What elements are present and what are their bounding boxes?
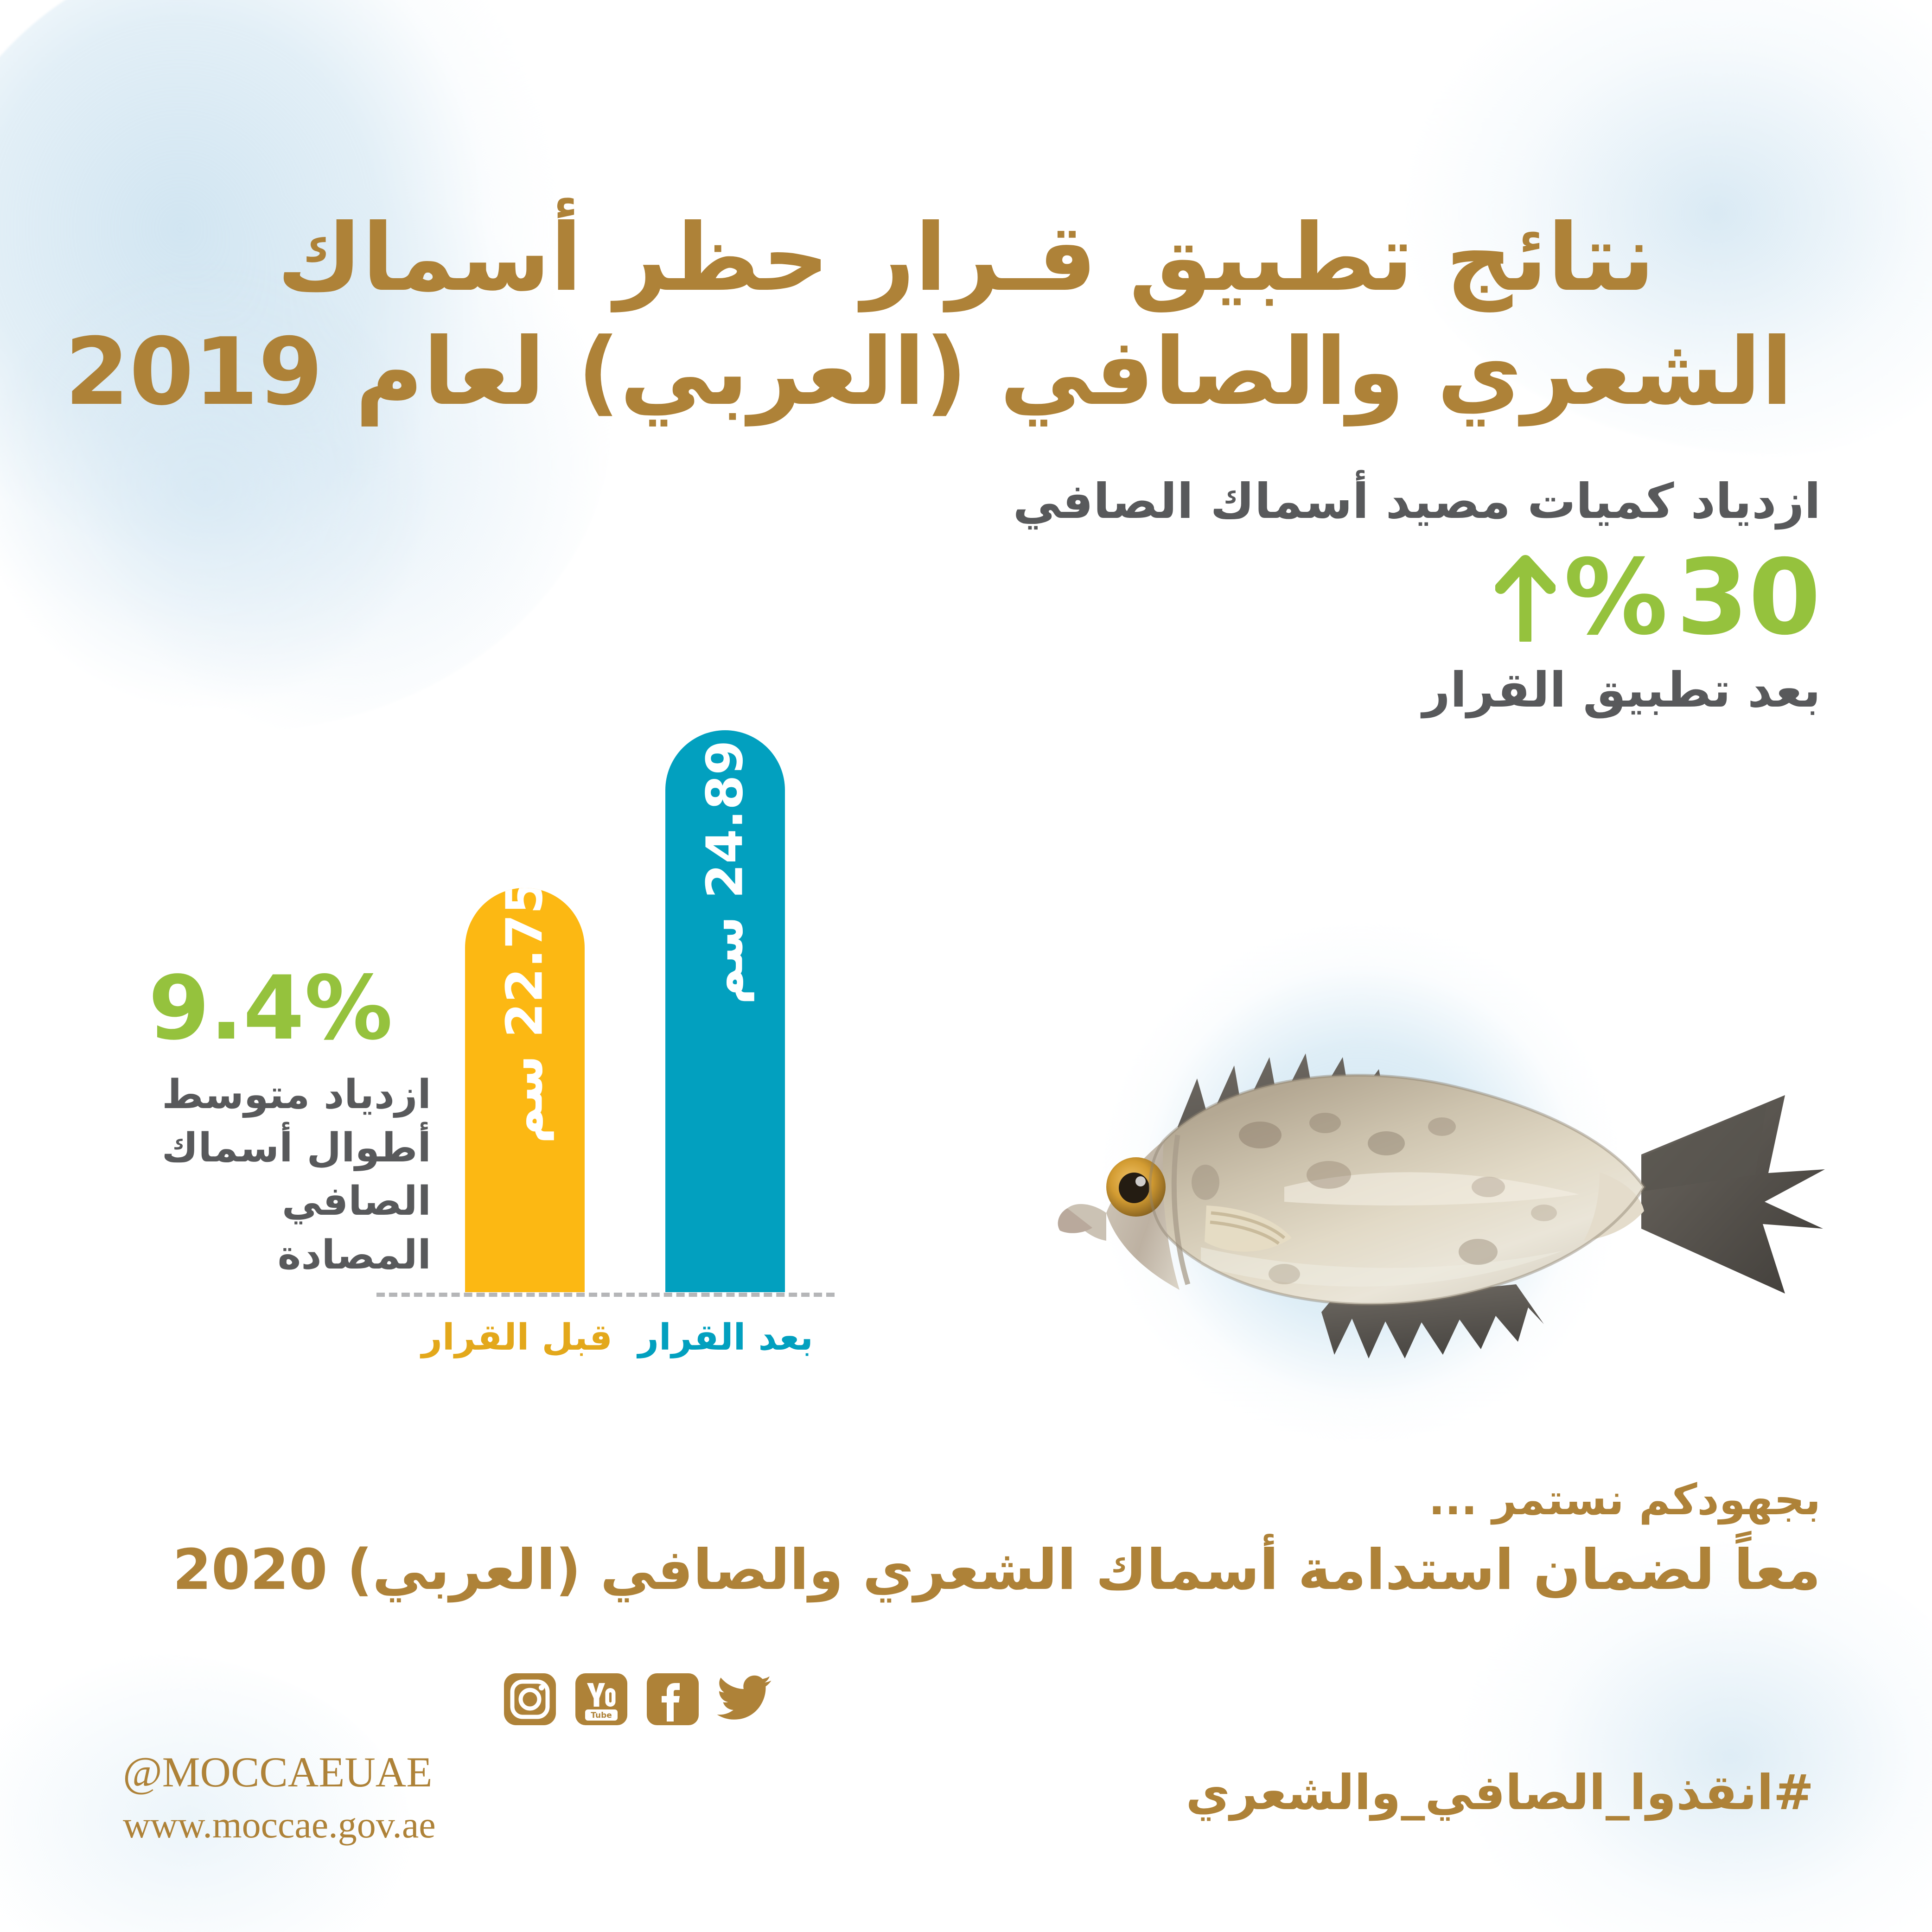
facebook-icon[interactable]	[645, 1671, 701, 1727]
social-links: Tube	[123, 1671, 772, 1727]
closing-line-2: معاً لضمان استدامة أسماك الشعري والصافي …	[105, 1536, 1821, 1605]
bar-after-decision: 24.89 سم	[665, 730, 785, 1292]
length-stat-value: 9.4	[148, 957, 305, 1059]
instagram-icon[interactable]	[502, 1671, 558, 1727]
length-stat-percent-sign: %	[305, 957, 393, 1059]
bar-after-value-label: 24.89 سم	[696, 740, 754, 1004]
svg-text:Tube: Tube	[591, 1711, 612, 1720]
bar-before-value-label: 22.75 سم	[496, 888, 554, 1143]
chart-category-before: قبل القرار	[420, 1317, 614, 1358]
chart-category-after: بعد القرار	[628, 1317, 823, 1358]
catch-stat-percent-sign: %	[1564, 546, 1668, 650]
arrow-up-icon	[1495, 554, 1556, 642]
safi-fish-photo	[1025, 988, 1841, 1377]
website-url[interactable]: www.moccae.gov.ae	[123, 1804, 772, 1846]
length-stat-description: ازدياد متوسط أطوال أسماك الصافي المصادة	[116, 1068, 431, 1282]
closing-message: بجهودكم نستمر ... معاً لضمان استدامة أسم…	[105, 1474, 1821, 1605]
campaign-hashtag: #انقذوا_الصافي_والشعري	[1186, 1764, 1814, 1821]
social-handle[interactable]: @MOCCAEUAE	[123, 1748, 772, 1796]
length-increase-stat: 9.4% ازدياد متوسط أطوال أسماك الصافي الم…	[116, 964, 431, 1282]
footer: Tube @MOCCAEUAE www.moccae.gov.ae	[123, 1671, 772, 1846]
length-stat-value-row: 9.4%	[116, 964, 431, 1052]
youtube-icon[interactable]: Tube	[574, 1671, 629, 1727]
chart-baseline	[376, 1293, 835, 1297]
twitter-icon[interactable]	[716, 1671, 772, 1727]
closing-line-1: بجهودكم نستمر ...	[105, 1474, 1821, 1525]
bar-before-decision: 22.75 سم	[465, 888, 585, 1292]
infographic-canvas: نتائج تطبيق قـرار حظر أسماك الشعري والصا…	[0, 0, 1932, 1932]
catch-stat-value: 30	[1676, 546, 1821, 650]
